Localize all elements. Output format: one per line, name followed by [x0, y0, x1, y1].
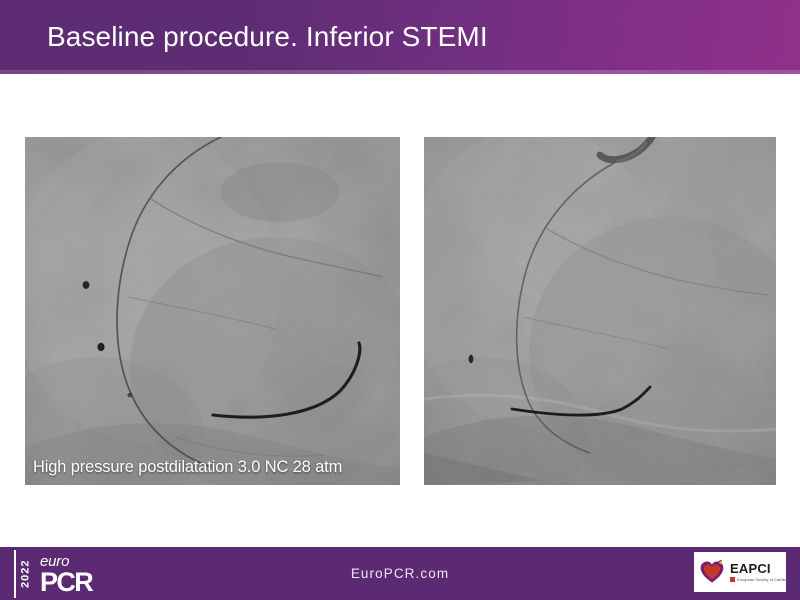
eapci-logo: EAPCI European Society of Cardiology: [694, 552, 786, 592]
left-angiogram-image: High pressure postdilatation 3.0 NC 28 a…: [25, 137, 400, 485]
europcr-logo-year: 2022: [14, 550, 34, 598]
eapci-logo-text: EAPCI European Society of Cardiology: [725, 562, 793, 582]
footer-url[interactable]: EuroPCR.com: [0, 547, 800, 600]
header-underline: [0, 70, 800, 74]
left-angiogram-graphic: [25, 137, 400, 485]
europcr-logo: 2022 euro PCR: [14, 550, 106, 598]
slide-header: Baseline procedure. Inferior STEMI: [0, 0, 800, 74]
page-title: Baseline procedure. Inferior STEMI: [47, 17, 488, 57]
left-angiogram-caption: High pressure postdilatation 3.0 NC 28 a…: [33, 458, 394, 477]
europcr-logo-wordmark: euro PCR: [34, 550, 92, 598]
eapci-logo-subtitle-row: European Society of Cardiology: [730, 577, 793, 582]
europcr-logo-pcr: PCR: [40, 569, 92, 595]
eapci-logo-subtitle: European Society of Cardiology: [737, 577, 793, 582]
right-angiogram-image: [424, 137, 776, 485]
eapci-swatch-icon: [730, 577, 735, 582]
heart-icon: [699, 559, 725, 585]
slide: Baseline procedure. Inferior STEMI: [0, 0, 800, 600]
right-angiogram-graphic: [424, 137, 776, 485]
eapci-logo-name: EAPCI: [730, 562, 793, 576]
slide-footer: EuroPCR.com: [0, 547, 800, 600]
